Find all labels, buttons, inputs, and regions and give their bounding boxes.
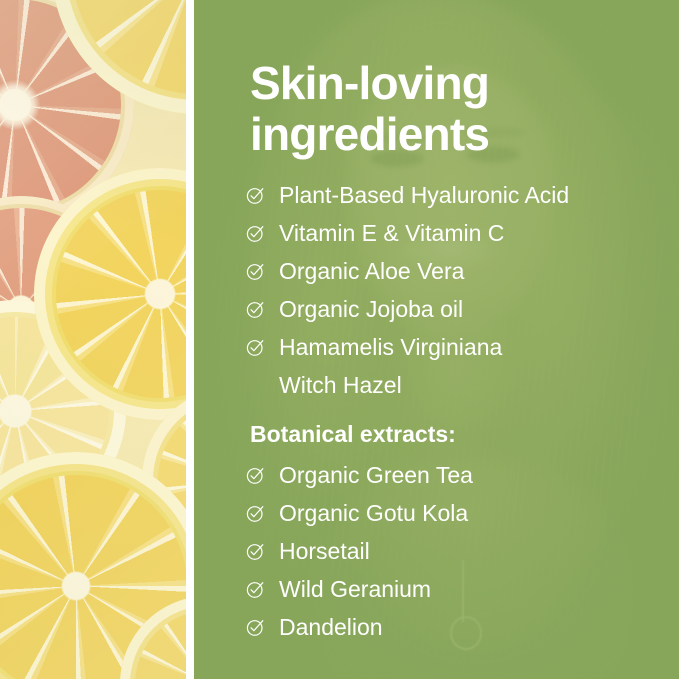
botanical-extracts-heading: Botanical extracts: bbox=[250, 420, 456, 448]
check-circle-icon bbox=[246, 618, 265, 637]
list-item-label: Organic Green Tea bbox=[279, 462, 473, 488]
panel-content: Skin-loving ingredients Plant-Based Hyal… bbox=[194, 0, 679, 679]
list-item: Organic Gotu Kola bbox=[246, 500, 473, 538]
check-circle-icon bbox=[246, 542, 265, 561]
list-item-label: Organic Aloe Vera bbox=[279, 258, 464, 284]
citrus-photo-panel bbox=[0, 0, 186, 679]
citrus-photo-backdrop bbox=[0, 0, 186, 679]
botanical-extracts-list: Organic Green Tea Organic Gotu Kola bbox=[246, 462, 473, 652]
check-circle-icon bbox=[246, 504, 265, 523]
list-item: Plant-Based Hyaluronic Acid bbox=[246, 182, 569, 220]
check-circle-icon bbox=[246, 466, 265, 485]
check-circle-icon bbox=[246, 300, 265, 319]
list-item: Organic Jojoba oil bbox=[246, 296, 569, 334]
list-item: Vitamin E & Vitamin C bbox=[246, 220, 569, 258]
list-item-label: Plant-Based Hyaluronic Acid bbox=[279, 182, 569, 208]
list-item: Organic Aloe Vera bbox=[246, 258, 569, 296]
list-item-label: Organic Jojoba oil bbox=[279, 296, 463, 322]
check-circle-icon bbox=[246, 338, 265, 357]
citrus-photo-tone-wash bbox=[0, 0, 186, 679]
check-circle-icon bbox=[246, 580, 265, 599]
list-item-label: Vitamin E & Vitamin C bbox=[279, 220, 504, 246]
list-item: Horsetail bbox=[246, 538, 473, 576]
list-item-label: Wild Geranium bbox=[279, 576, 431, 602]
list-item-label: Dandelion bbox=[279, 614, 383, 640]
check-circle-icon bbox=[246, 186, 265, 205]
list-item: Hamamelis Virginiana bbox=[246, 334, 569, 372]
list-item-label: Hamamelis Virginiana bbox=[279, 334, 502, 360]
product-infographic-canvas: Skin-loving ingredients Plant-Based Hyal… bbox=[0, 0, 679, 679]
list-item-continuation: Witch Hazel bbox=[246, 372, 569, 410]
check-circle-icon bbox=[246, 224, 265, 243]
panel-divider bbox=[186, 0, 194, 679]
list-item-label: Horsetail bbox=[279, 538, 370, 564]
list-item-label: Witch Hazel bbox=[279, 372, 402, 398]
ingredients-list: Plant-Based Hyaluronic Acid Vitamin E & … bbox=[246, 182, 569, 410]
list-item: Organic Green Tea bbox=[246, 462, 473, 500]
page-title: Skin-loving ingredients bbox=[250, 58, 650, 159]
ingredients-panel: Skin-loving ingredients Plant-Based Hyal… bbox=[194, 0, 679, 679]
list-item: Dandelion bbox=[246, 614, 473, 652]
check-circle-icon bbox=[246, 262, 265, 281]
list-item: Wild Geranium bbox=[246, 576, 473, 614]
list-item-label: Organic Gotu Kola bbox=[279, 500, 468, 526]
